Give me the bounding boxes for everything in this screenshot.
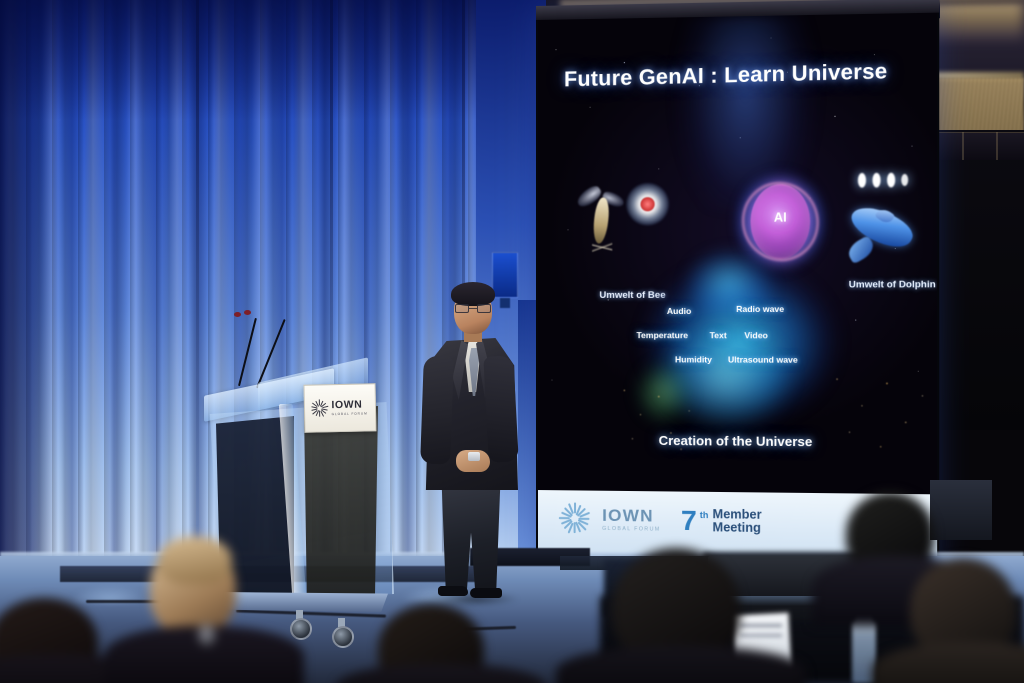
meeting-ordinal: th	[700, 510, 709, 520]
dark-doorway	[925, 130, 1024, 430]
lectern-logo-subtitle: GLOBAL FORUM	[332, 412, 368, 416]
curtain-top-shadow	[0, 0, 540, 120]
lectern-inner-panel-right	[304, 406, 378, 606]
modality-word-cloud: AudioRadio waveTemperatureTextVideoHumid…	[630, 304, 855, 396]
door-mullion	[962, 132, 964, 160]
eyeglasses-icon	[455, 304, 491, 313]
modality-word: Text	[710, 330, 727, 340]
eyeglass-lens-right	[477, 304, 491, 313]
lectern-base	[218, 592, 388, 612]
modality-word: Radio wave	[736, 304, 784, 314]
sonar-wave-icon	[854, 169, 914, 192]
modality-word: Temperature	[636, 330, 688, 340]
modality-word: Video	[744, 330, 768, 340]
iown-burst-logo-icon	[560, 504, 590, 534]
floor-cable	[86, 600, 206, 603]
presentation-clicker	[468, 452, 480, 461]
door-transom	[930, 132, 1024, 160]
lectern-logo-name: IOWN	[331, 400, 367, 411]
iown-logo-subtitle: GLOBAL FORUM	[602, 527, 660, 533]
iown-burst-logo-icon	[312, 401, 327, 416]
iown-logo-name: IOWN	[602, 507, 660, 525]
speaker-shoe-left	[438, 586, 468, 596]
meeting-number: 7	[681, 508, 697, 534]
eyeglass-bridge	[469, 308, 477, 309]
member-meeting-badge: 7 th Member Meeting	[681, 508, 762, 535]
speaker-hair	[451, 282, 495, 306]
eyeglass-lens-left	[455, 304, 469, 313]
screen-support-truss	[560, 556, 720, 570]
speaker-arm-right	[483, 355, 519, 462]
modality-word: Audio	[667, 306, 691, 316]
lectern-logo-sign: IOWN GLOBAL FORUM	[304, 383, 377, 432]
speaker-arm-left	[420, 356, 454, 465]
meeting-line-2: Meeting	[713, 521, 762, 535]
speaker-legs	[436, 482, 506, 592]
modality-word: Ultrasound wave	[728, 354, 798, 364]
bee-legs-icon	[592, 234, 612, 260]
presentation-slide: Future GenAI : Learn Universe Umwelt of …	[538, 13, 937, 495]
lectern-caster-wheel	[290, 618, 312, 640]
door-mullion	[996, 132, 998, 160]
microphone-head-icon	[244, 310, 251, 315]
ai-node-label: AI	[736, 210, 824, 225]
microphone-head-icon	[234, 312, 241, 317]
projection-screen: Future GenAI : Learn Universe Umwelt of …	[536, 0, 939, 568]
lectern-caster-wheel	[332, 626, 354, 648]
conference-photo-scene: Future GenAI : Learn Universe Umwelt of …	[0, 0, 1024, 683]
speaker-shoe-right	[470, 588, 502, 598]
lectern: IOWN GLOBAL FORUM	[198, 330, 412, 650]
modality-word: Humidity	[675, 354, 712, 364]
pa-speaker-box	[930, 480, 992, 540]
flower-center-icon	[641, 197, 655, 211]
keynote-speaker	[416, 282, 522, 600]
